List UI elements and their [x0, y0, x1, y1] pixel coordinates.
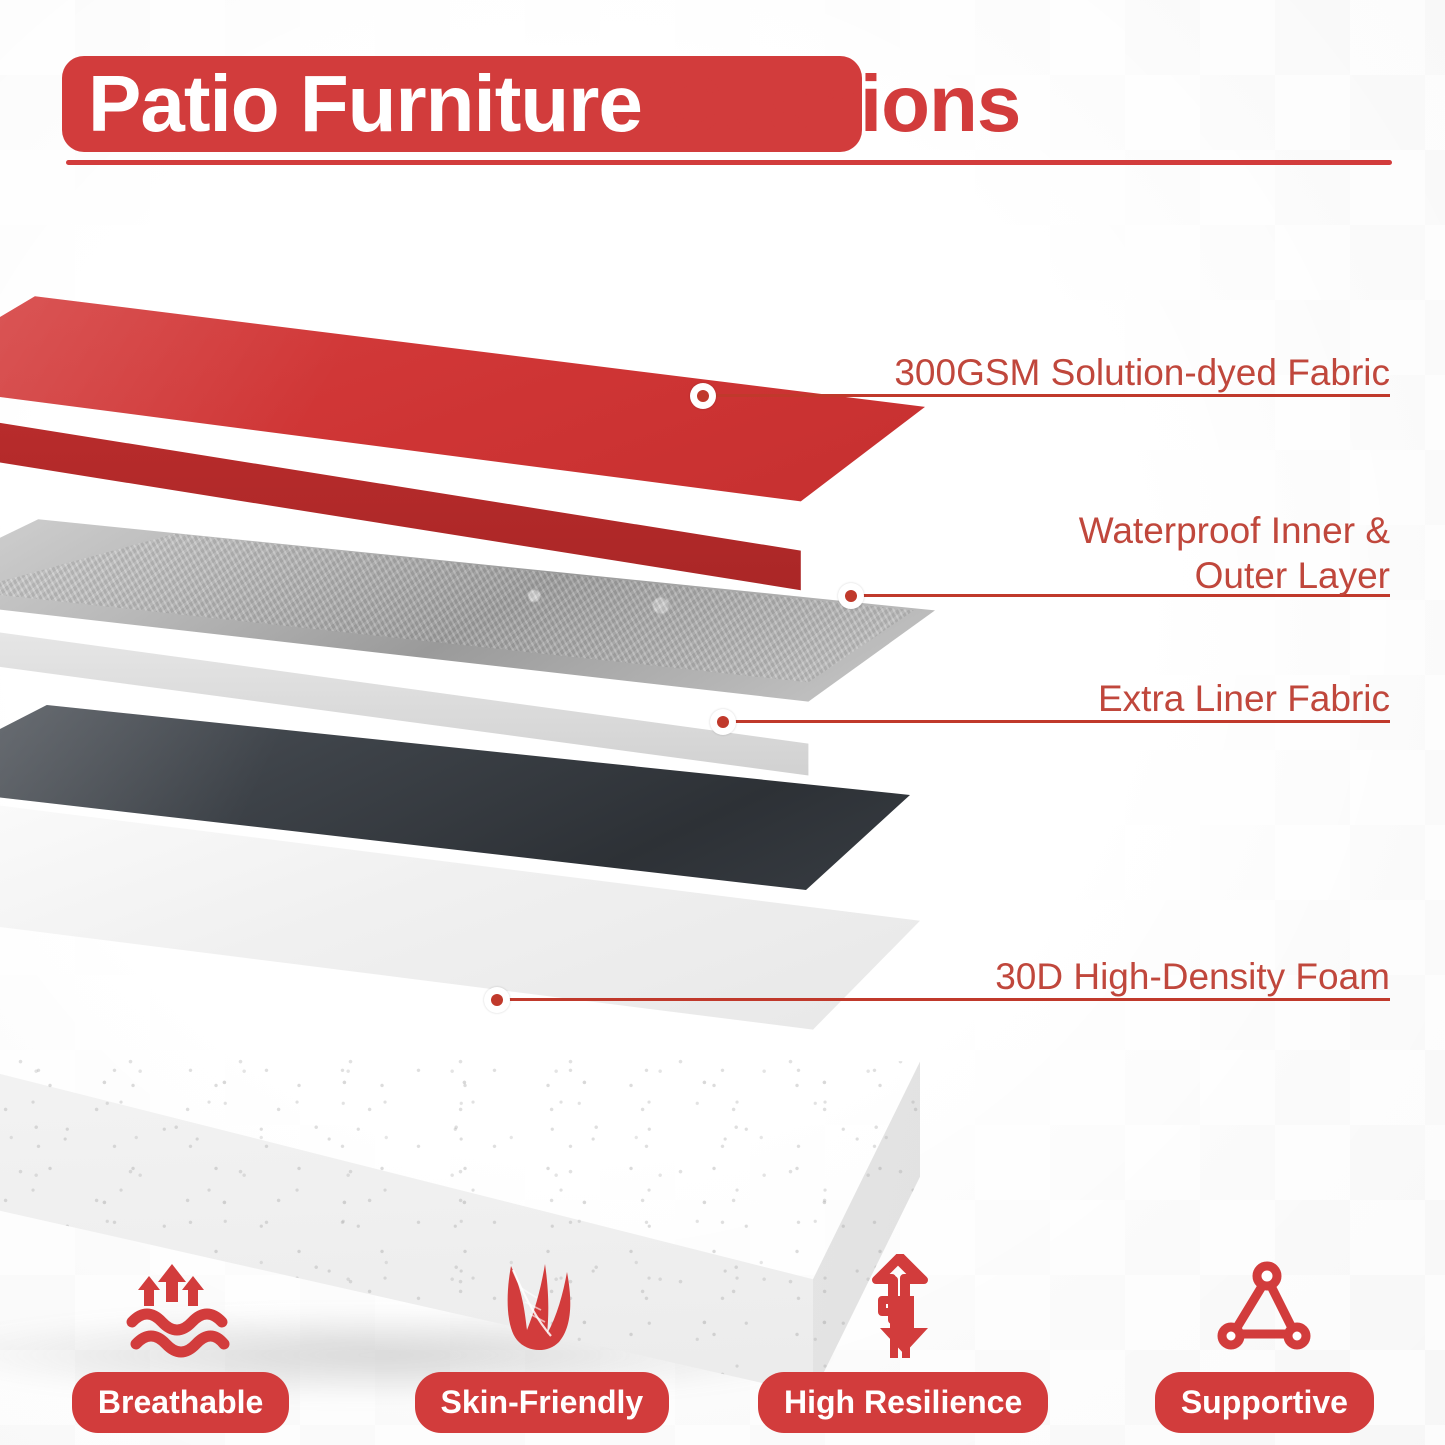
callout-label-liner: Extra Liner Fabric	[650, 676, 1390, 721]
callout-label-fabric-line1: 300GSM Solution-dyed Fabric	[894, 352, 1390, 393]
callout-label-waterproof: Waterproof Inner & Outer Layer	[650, 508, 1390, 598]
feature-label-breathable[interactable]: Breathable	[72, 1372, 289, 1433]
callout-dot-icon	[484, 987, 510, 1013]
callout-label-fabric: 300GSM Solution-dyed Fabric	[650, 350, 1390, 395]
callout-label-liner-line1: Extra Liner Fabric	[1098, 678, 1390, 719]
up-down-arrows-icon	[848, 1258, 958, 1358]
callout-label-foam-line1: 30D High-Density Foam	[995, 956, 1390, 997]
feature-label-supportive[interactable]: Supportive	[1155, 1372, 1374, 1433]
feature-breathable[interactable]: Breathable	[31, 1258, 331, 1433]
feature-label-skin-friendly[interactable]: Skin-Friendly	[415, 1372, 670, 1433]
callout-label-foam: 30D High-Density Foam	[650, 954, 1390, 999]
breathable-airflow-icon	[126, 1258, 236, 1358]
feather-icon	[487, 1258, 597, 1358]
title-plain-text: Cushions	[642, 58, 1020, 150]
feature-badge-row: Breathable Skin-Friendly High Resilience	[0, 1218, 1445, 1433]
feature-supportive[interactable]: Supportive	[1114, 1258, 1414, 1433]
page-title: Patio Furniture Cushions	[62, 48, 1392, 170]
feature-skin-friendly[interactable]: Skin-Friendly	[392, 1258, 692, 1433]
title-highlighted-text: Patio Furniture	[62, 58, 642, 150]
triangle-nodes-icon	[1209, 1258, 1319, 1358]
callout-label-waterproof-line2: Outer Layer	[650, 553, 1390, 598]
feature-label-high-resilience[interactable]: High Resilience	[758, 1372, 1048, 1433]
feature-high-resilience[interactable]: High Resilience	[753, 1258, 1053, 1433]
title-text-row: Patio Furniture Cushions	[62, 56, 1392, 152]
title-underline	[66, 160, 1392, 165]
callout-label-waterproof-line1: Waterproof Inner &	[650, 508, 1390, 553]
